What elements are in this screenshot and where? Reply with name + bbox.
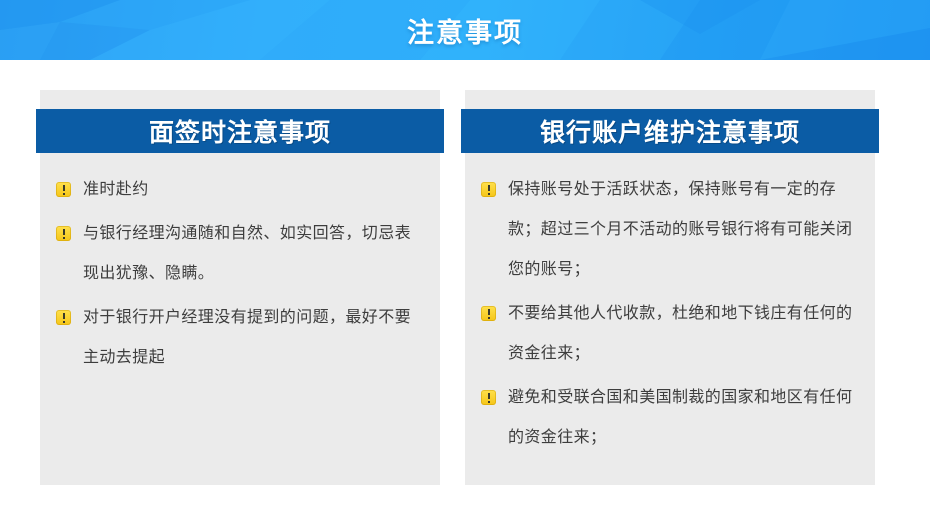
card-header-bar-right: 银行账户维护注意事项 bbox=[461, 109, 879, 153]
warning-exclamation-icon bbox=[56, 310, 71, 325]
list-item-text: 保持账号处于活跃状态，保持账号有一定的存款；超过三个月不活动的账号银行将有可能关… bbox=[508, 170, 861, 290]
cards-region: 面签时注意事项 准时赴约 与银行经理沟通随和自然、如实回答，切忌表现出犹豫、隐瞒… bbox=[0, 60, 930, 516]
warning-exclamation-icon bbox=[481, 182, 496, 197]
card-title-left: 面签时注意事项 bbox=[149, 113, 331, 149]
list-item-text: 不要给其他人代收款，杜绝和地下钱庄有任何的资金往来； bbox=[508, 294, 861, 374]
list-item-text: 与银行经理沟通随和自然、如实回答，切忌表现出犹豫、隐瞒。 bbox=[83, 214, 426, 294]
page-header-banner: 注意事项 bbox=[0, 0, 930, 60]
list-item: 保持账号处于活跃状态，保持账号有一定的存款；超过三个月不活动的账号银行将有可能关… bbox=[481, 170, 861, 290]
list-item-text: 避免和受联合国和美国制裁的国家和地区有任何的资金往来； bbox=[508, 378, 861, 458]
list-item: 不要给其他人代收款，杜绝和地下钱庄有任何的资金往来； bbox=[481, 294, 861, 374]
card-header-bar-left: 面签时注意事项 bbox=[36, 109, 444, 153]
list-item: 与银行经理沟通随和自然、如实回答，切忌表现出犹豫、隐瞒。 bbox=[56, 214, 426, 294]
list-item-text: 对于银行开户经理没有提到的问题，最好不要主动去提起 bbox=[83, 298, 426, 378]
warning-exclamation-icon bbox=[481, 306, 496, 321]
card-interview-notes: 面签时注意事项 准时赴约 与银行经理沟通随和自然、如实回答，切忌表现出犹豫、隐瞒… bbox=[40, 90, 440, 485]
warning-exclamation-icon bbox=[56, 182, 71, 197]
list-item-text: 准时赴约 bbox=[83, 170, 149, 210]
card-title-right: 银行账户维护注意事项 bbox=[540, 113, 800, 149]
warning-exclamation-icon bbox=[481, 390, 496, 405]
card-bank-account-notes: 银行账户维护注意事项 保持账号处于活跃状态，保持账号有一定的存款；超过三个月不活… bbox=[465, 90, 875, 485]
list-item: 准时赴约 bbox=[56, 170, 426, 210]
list-item: 避免和受联合国和美国制裁的国家和地区有任何的资金往来； bbox=[481, 378, 861, 458]
list-item: 对于银行开户经理没有提到的问题，最好不要主动去提起 bbox=[56, 298, 426, 378]
card-body-left: 准时赴约 与银行经理沟通随和自然、如实回答，切忌表现出犹豫、隐瞒。 对于银行开户… bbox=[40, 170, 440, 382]
card-body-right: 保持账号处于活跃状态，保持账号有一定的存款；超过三个月不活动的账号银行将有可能关… bbox=[465, 170, 875, 462]
page-title: 注意事项 bbox=[0, 0, 930, 60]
warning-exclamation-icon bbox=[56, 226, 71, 241]
